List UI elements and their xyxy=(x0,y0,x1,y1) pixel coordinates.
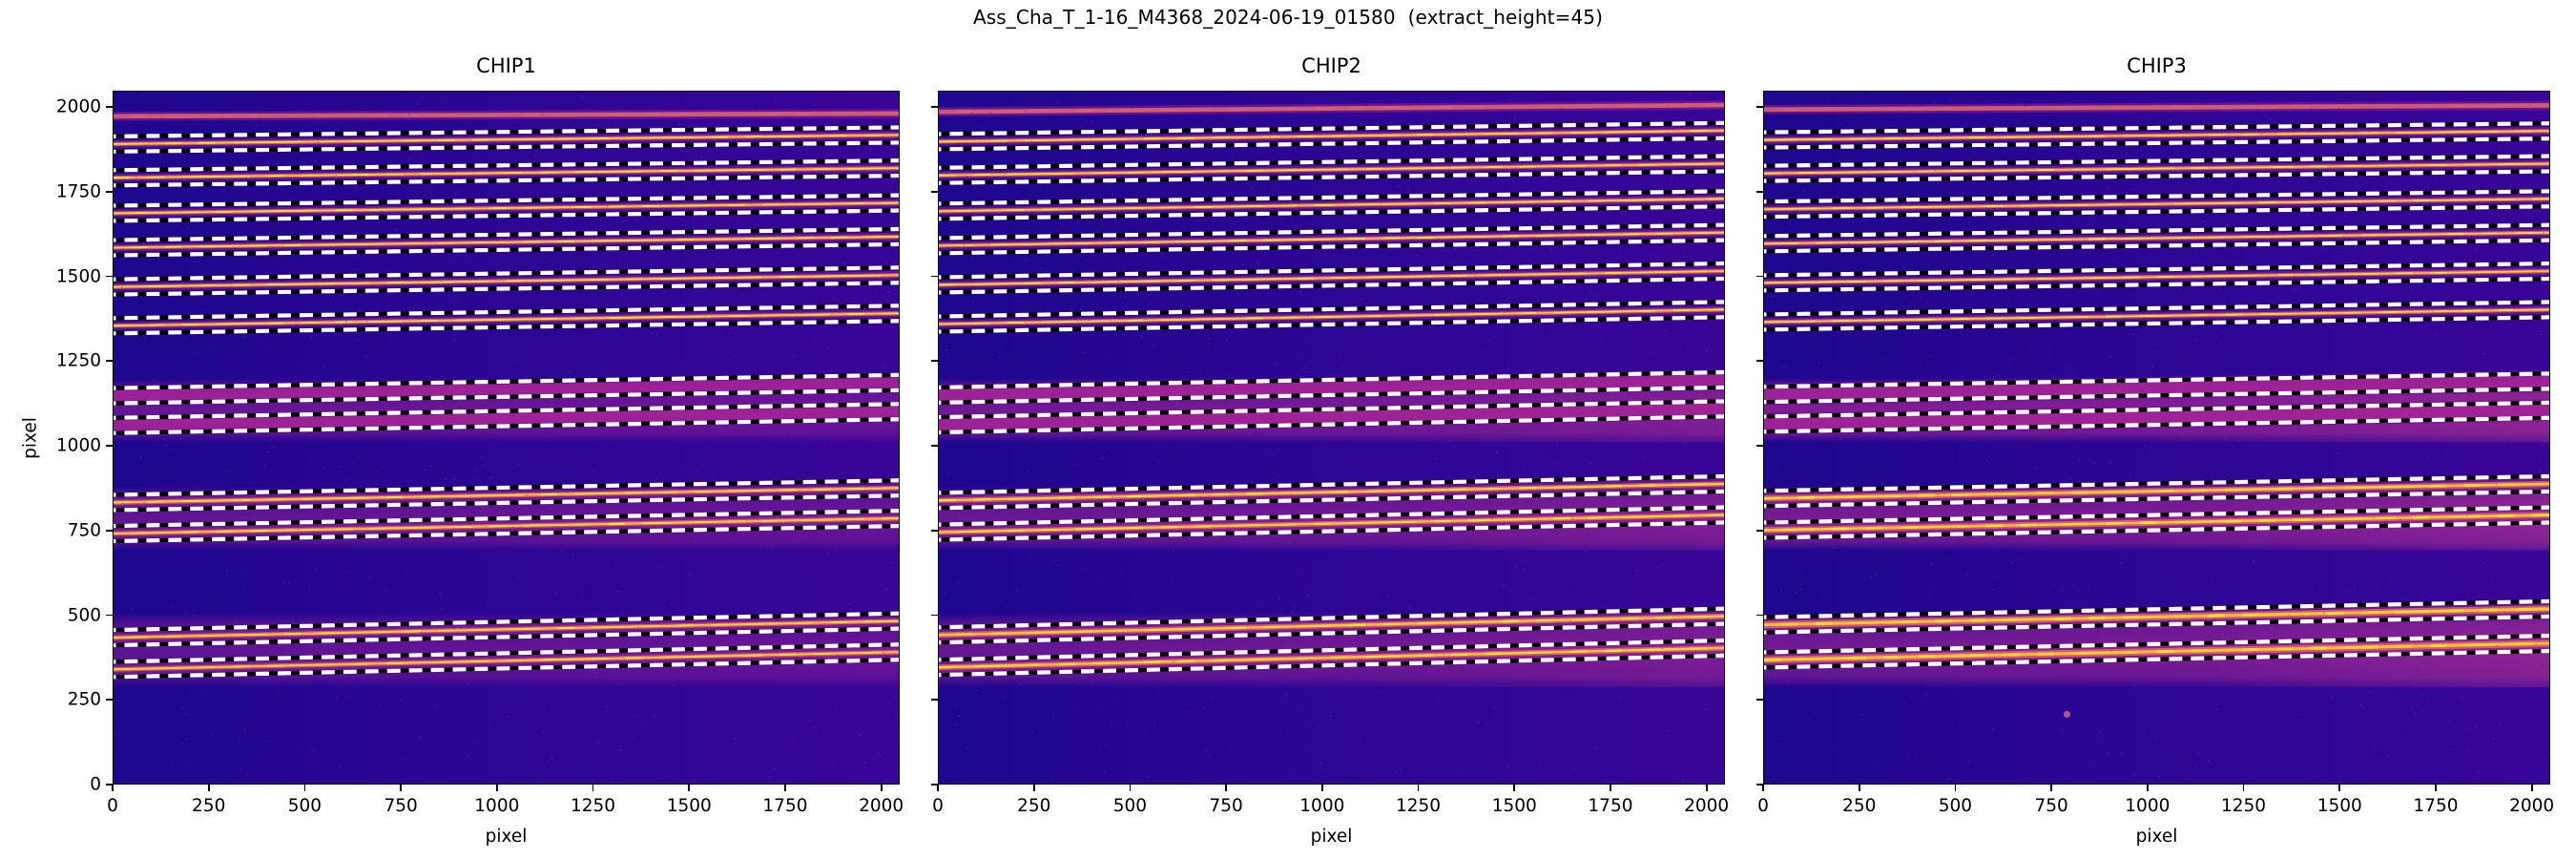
axes-chip3[interactable] xyxy=(1763,91,2550,785)
ytick-mark xyxy=(1756,106,1763,108)
xtick-label: 750 xyxy=(384,796,417,816)
xtick-label: 1500 xyxy=(2317,796,2362,816)
xtick-mark xyxy=(2147,785,2149,791)
xtick-label: 1000 xyxy=(1299,796,1344,816)
xtick-mark xyxy=(2050,785,2052,791)
xtick-label: 0 xyxy=(1757,796,1769,816)
detector-image-chip3 xyxy=(1764,92,2549,784)
ytick-mark xyxy=(931,276,938,278)
xaxis-label-chip1: pixel xyxy=(113,827,900,847)
ytick-label: 750 xyxy=(68,520,101,540)
xtick-mark xyxy=(1130,785,1132,791)
ytick-label: 0 xyxy=(90,775,101,795)
detector-frame xyxy=(939,92,1724,784)
xtick-mark xyxy=(1762,785,1764,791)
xaxis-label-chip2: pixel xyxy=(938,827,1725,847)
ytick-mark xyxy=(106,191,113,193)
axes-chip1[interactable] xyxy=(113,91,900,785)
detector-frame xyxy=(114,92,899,784)
ytick-label: 1500 xyxy=(56,266,101,286)
detector-image-chip2 xyxy=(939,92,1724,784)
xtick-mark xyxy=(400,785,402,791)
xtick-mark xyxy=(1418,785,1420,791)
xtick-label: 750 xyxy=(2034,796,2067,816)
xtick-mark xyxy=(1225,785,1227,791)
panel-title-chip3: CHIP3 xyxy=(1763,54,2550,77)
xtick-label: 500 xyxy=(288,796,322,816)
ytick-mark xyxy=(106,276,113,278)
xtick-mark xyxy=(1321,785,1323,791)
subplot-chip3: CHIP3 pixel 0250500750100012501500175020… xyxy=(1763,91,2550,785)
xtick-mark xyxy=(1513,785,1515,791)
xtick-label: 1250 xyxy=(1396,796,1441,816)
xtick-mark xyxy=(2531,785,2533,791)
xtick-mark xyxy=(112,785,114,791)
figure-canvas: Ass_Cha_T_1-16_M4368_2024-06-19_01580 (e… xyxy=(0,0,2576,859)
ytick-mark xyxy=(1756,615,1763,617)
detector-image-chip1 xyxy=(114,92,899,784)
xtick-mark xyxy=(1706,785,1708,791)
xtick-label: 0 xyxy=(107,796,118,816)
xtick-label: 1750 xyxy=(1588,796,1632,816)
ytick-mark xyxy=(1756,445,1763,447)
xtick-mark xyxy=(688,785,690,791)
ytick-label: 1250 xyxy=(56,351,101,371)
detector-artifact xyxy=(2064,711,2070,718)
xtick-mark xyxy=(2338,785,2340,791)
xtick-mark xyxy=(2435,785,2437,791)
ytick-mark xyxy=(931,360,938,362)
xtick-mark xyxy=(208,785,210,791)
ytick-mark xyxy=(1756,360,1763,362)
panel-title-chip1: CHIP1 xyxy=(113,54,900,77)
xtick-label: 250 xyxy=(192,796,225,816)
xtick-label: 1000 xyxy=(2125,796,2170,816)
ytick-label: 2000 xyxy=(56,97,101,117)
xtick-label: 500 xyxy=(1939,796,1972,816)
ytick-mark xyxy=(931,530,938,532)
ytick-mark xyxy=(931,615,938,617)
xtick-label: 1500 xyxy=(667,796,712,816)
ytick-mark xyxy=(106,699,113,701)
xtick-mark xyxy=(1033,785,1035,791)
xtick-label: 1250 xyxy=(571,796,615,816)
xtick-label: 1750 xyxy=(2413,796,2458,816)
xtick-mark xyxy=(1610,785,1611,791)
xtick-label: 0 xyxy=(932,796,944,816)
xtick-mark xyxy=(881,785,883,791)
ytick-label: 1000 xyxy=(56,436,101,456)
ytick-mark xyxy=(931,445,938,447)
ytick-label: 1750 xyxy=(56,181,101,201)
subplot-chip1: CHIP1 pixel 0250500750100012501500175020… xyxy=(113,91,900,785)
ytick-mark xyxy=(1756,699,1763,701)
detector-frame xyxy=(1764,92,2549,784)
xtick-mark xyxy=(1955,785,1957,791)
xtick-label: 500 xyxy=(1113,796,1147,816)
figure-suptitle: Ass_Cha_T_1-16_M4368_2024-06-19_01580 (e… xyxy=(0,6,2576,29)
ytick-mark xyxy=(106,106,113,108)
ytick-mark xyxy=(931,106,938,108)
xtick-label: 750 xyxy=(1209,796,1242,816)
xtick-mark xyxy=(2243,785,2245,791)
ytick-mark xyxy=(931,191,938,193)
xtick-label: 1000 xyxy=(474,796,519,816)
xtick-label: 1500 xyxy=(1492,796,1537,816)
xtick-label: 250 xyxy=(1842,796,1876,816)
ytick-mark xyxy=(106,615,113,617)
yaxis-label: pixel xyxy=(21,417,41,459)
ytick-mark xyxy=(106,360,113,362)
ytick-label: 500 xyxy=(68,605,101,625)
xtick-mark xyxy=(592,785,594,791)
ytick-mark xyxy=(106,445,113,447)
ytick-label: 250 xyxy=(68,690,101,710)
xtick-mark xyxy=(1859,785,1860,791)
ytick-mark xyxy=(1756,530,1763,532)
ytick-mark xyxy=(106,530,113,532)
xtick-mark xyxy=(937,785,939,791)
axes-chip2[interactable] xyxy=(938,91,1725,785)
ytick-mark xyxy=(1756,276,1763,278)
xtick-label: 2000 xyxy=(859,796,904,816)
subplot-chip2: CHIP2 pixel 0250500750100012501500175020… xyxy=(938,91,1725,785)
ytick-mark xyxy=(931,699,938,701)
xtick-label: 1750 xyxy=(762,796,807,816)
xaxis-label-chip3: pixel xyxy=(1763,827,2550,847)
panel-title-chip2: CHIP2 xyxy=(938,54,1725,77)
xtick-label: 1250 xyxy=(2221,796,2266,816)
xtick-label: 2000 xyxy=(1684,796,1729,816)
xtick-mark xyxy=(304,785,306,791)
xtick-mark xyxy=(496,785,498,791)
xtick-label: 250 xyxy=(1017,796,1050,816)
xtick-mark xyxy=(784,785,786,791)
xtick-label: 2000 xyxy=(2509,796,2554,816)
ytick-mark xyxy=(1756,191,1763,193)
